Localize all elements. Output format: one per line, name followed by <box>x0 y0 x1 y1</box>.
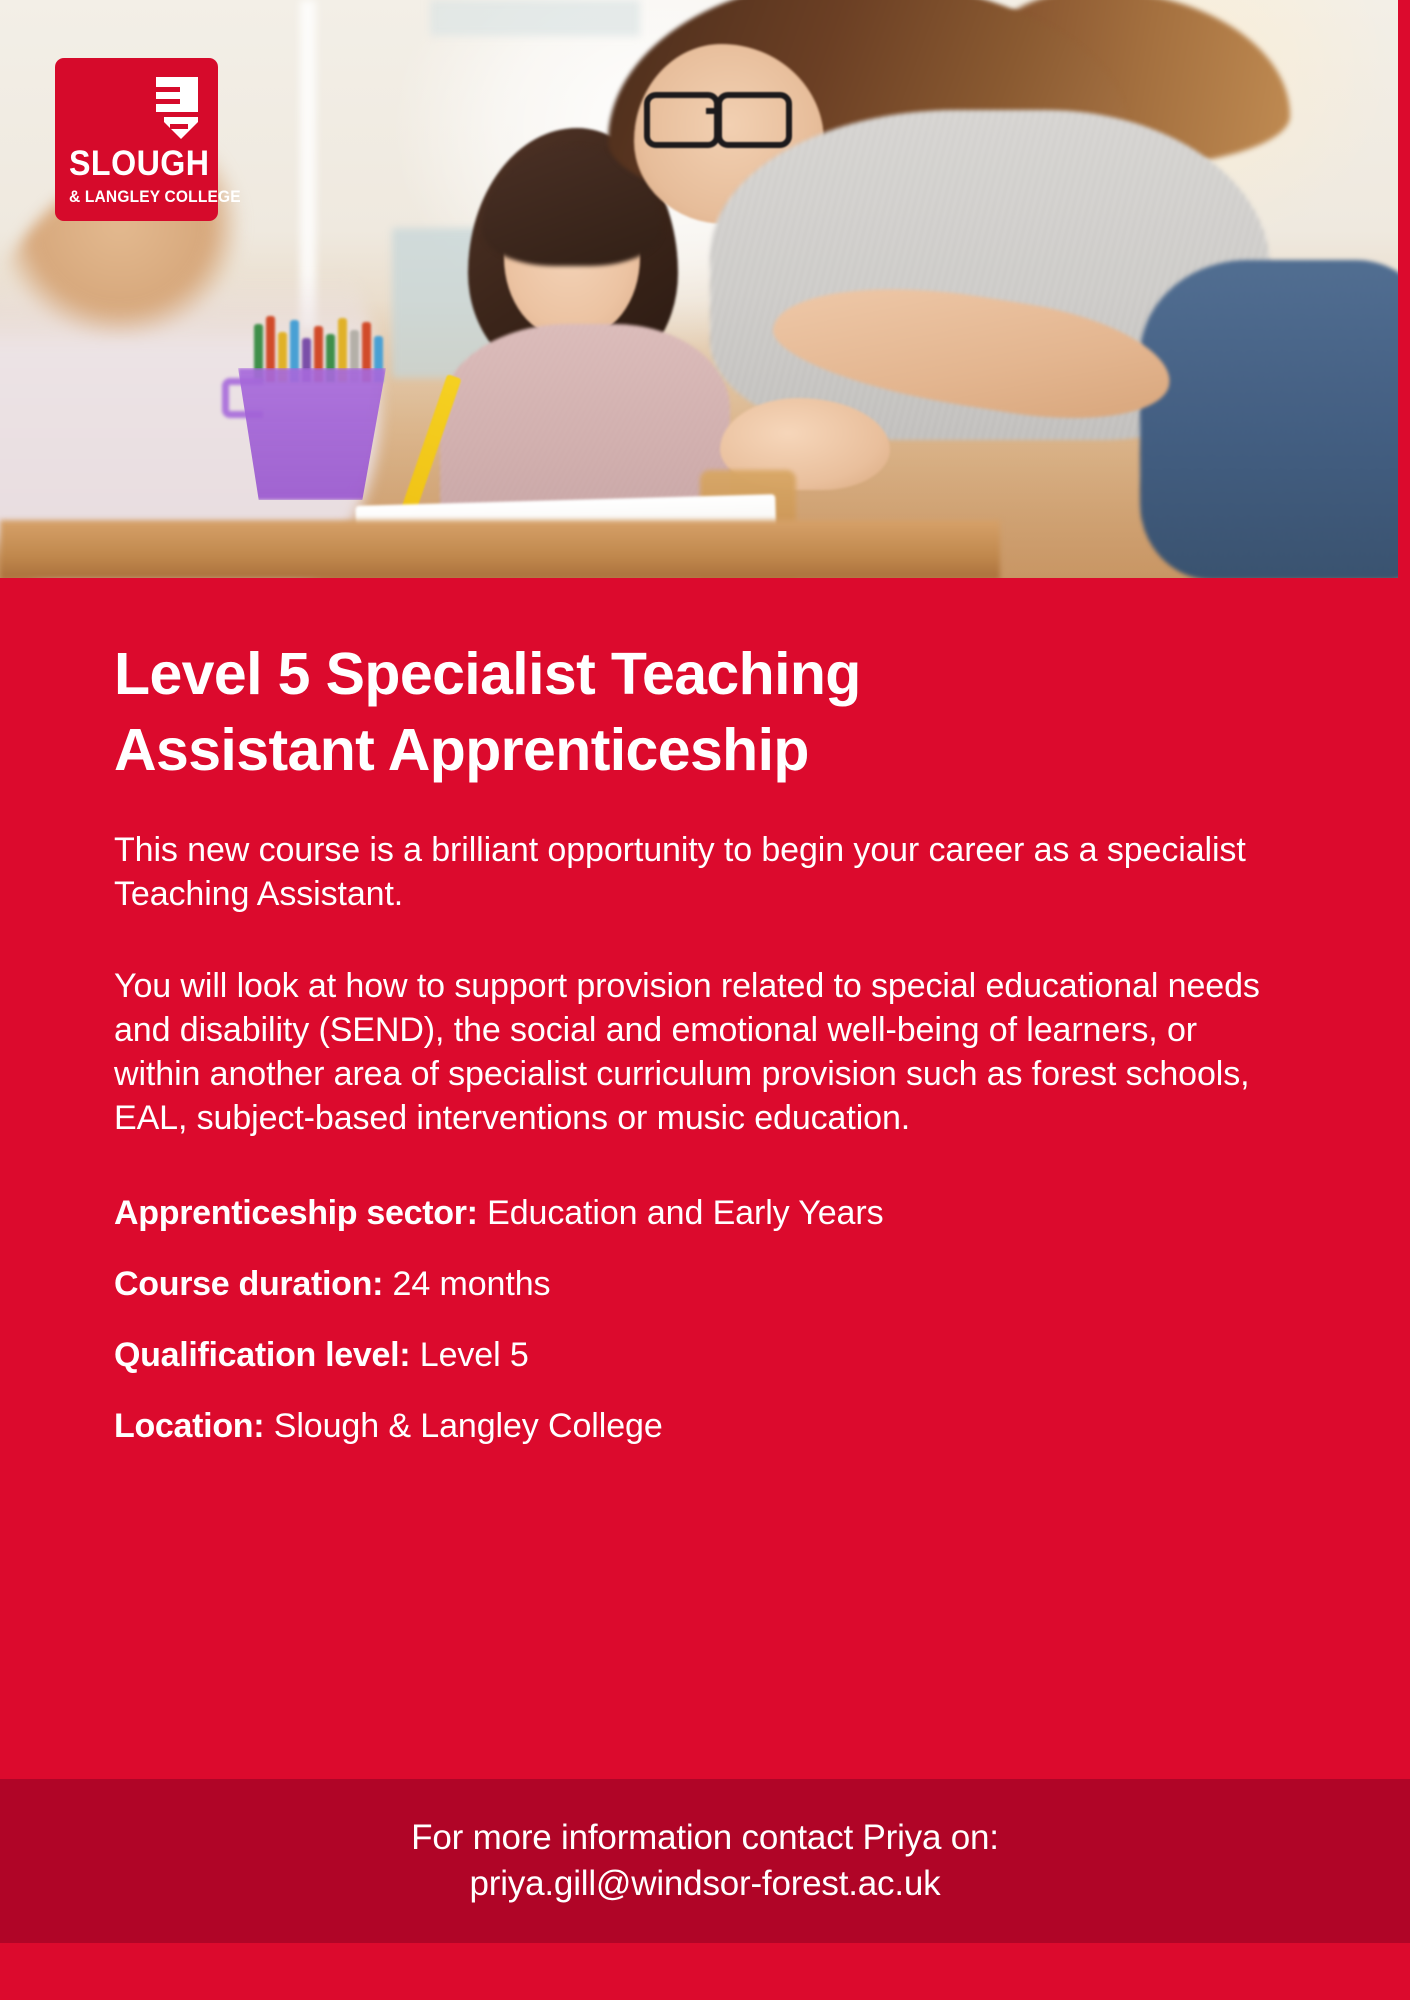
pencil-pot <box>238 368 386 500</box>
teacher-jeans <box>1140 260 1410 578</box>
page-title: Level 5 Specialist Teaching Assistant Ap… <box>114 578 1074 788</box>
slough-shield-icon <box>150 74 204 142</box>
logo-subtitle: & LANGLEY COLLEGE <box>69 189 241 206</box>
hero-right-edge-strip <box>1398 0 1410 578</box>
logo-wordmark: SLOUGH <box>69 146 210 181</box>
poster-root: SLOUGH & LANGLEY COLLEGE Level 5 Special… <box>0 0 1410 2000</box>
contact-footer: For more information contact Priya on: p… <box>0 1779 1410 1943</box>
teacher-glasses-icon <box>644 92 804 142</box>
bottom-accent-strip <box>0 1943 1410 2000</box>
body-section: Level 5 Specialist Teaching Assistant Ap… <box>0 578 1410 1779</box>
college-logo-badge: SLOUGH & LANGLEY COLLEGE <box>55 58 218 221</box>
desk-surface <box>0 520 1000 578</box>
detail-label: Location: <box>114 1407 264 1445</box>
detail-value: 24 months <box>393 1265 551 1303</box>
detail-row-sector: Apprenticeship sector: Education and Ear… <box>114 1196 1294 1230</box>
content-column: Level 5 Specialist Teaching Assistant Ap… <box>114 578 1294 1443</box>
intro-paragraph: This new course is a brilliant opportuni… <box>114 829 1289 917</box>
detail-value: Education and Early Years <box>487 1194 883 1232</box>
description-paragraph: You will look at how to support provisio… <box>114 965 1289 1140</box>
detail-label: Course duration: <box>114 1265 383 1303</box>
hero-photo: SLOUGH & LANGLEY COLLEGE <box>0 0 1410 578</box>
detail-value: Level 5 <box>420 1336 529 1374</box>
detail-row-qualification: Qualification level: Level 5 <box>114 1338 1294 1372</box>
detail-row-duration: Course duration: 24 months <box>114 1267 1294 1301</box>
detail-label: Apprenticeship sector: <box>114 1194 478 1232</box>
contact-prompt: For more information contact Priya on: <box>411 1815 999 1861</box>
teacher-figure <box>560 0 1410 578</box>
contact-email[interactable]: priya.gill@windsor-forest.ac.uk <box>470 1861 941 1907</box>
detail-value: Slough & Langley College <box>274 1407 663 1445</box>
detail-label: Qualification level: <box>114 1336 410 1374</box>
course-details-list: Apprenticeship sector: Education and Ear… <box>114 1196 1294 1443</box>
detail-row-location: Location: Slough & Langley College <box>114 1409 1294 1443</box>
